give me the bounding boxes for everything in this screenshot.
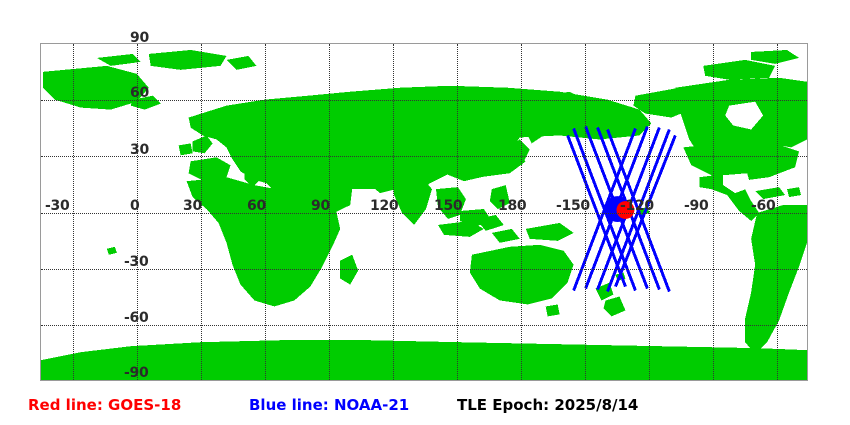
map-plot-area [40, 43, 808, 381]
legend-blue-line: Blue line: NOAA-21 [249, 398, 409, 413]
legend-red-line: Red line: GOES-18 [28, 398, 181, 413]
legend-footer: Red line: GOES-18 Blue line: NOAA-21 TLE… [0, 392, 850, 425]
world-landmass-layer [41, 44, 807, 380]
satellite-track-map: -30 0 30 60 90 120 150 180 -150 -120 -90… [0, 0, 850, 425]
legend-tle-epoch: TLE Epoch: 2025/8/14 [457, 398, 638, 413]
